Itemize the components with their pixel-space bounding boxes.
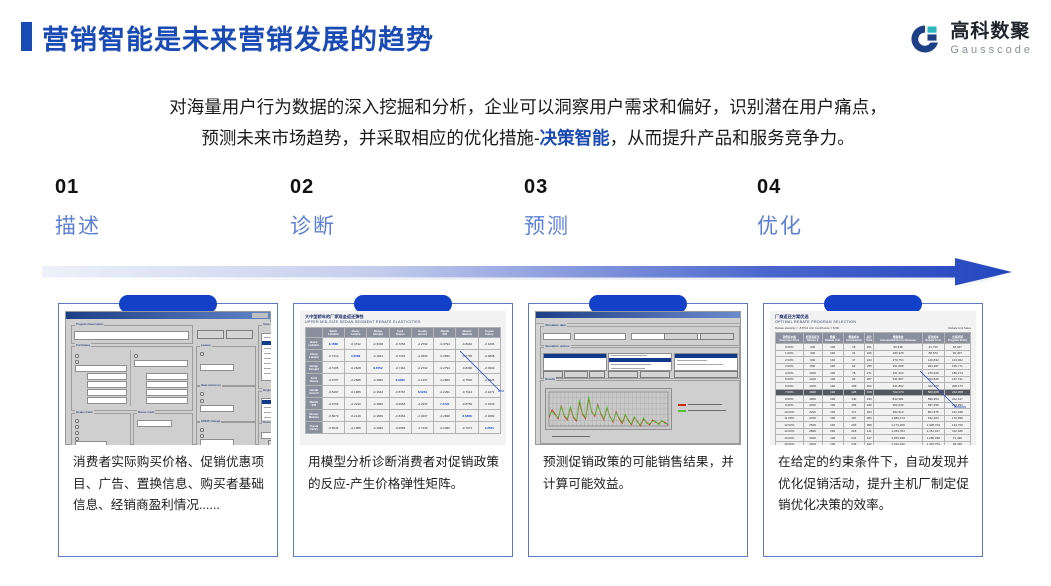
step-label: 诊断 — [290, 210, 500, 240]
step-label: 描述 — [55, 210, 265, 240]
step-item-02: 02 诊断 — [290, 176, 500, 240]
title-accent-bar — [21, 22, 32, 51]
card-describe[interactable]: Program Description Purchases Dealer Cas — [58, 303, 278, 557]
intro-line-2: 预测未来市场趋势，并采取相应的优化措施-决策智能，从而提升产品和服务竞争力。 — [48, 123, 1008, 154]
intro-line-2-before: 预测未来市场趋势，并采取相应的优化措施- — [201, 128, 539, 148]
matrix-title-en: UPPER MID-SIZE SEDAN SEGMENT REBATE ELAS… — [305, 320, 421, 324]
optimal-note-left: Rebate elasticity = -8.8713 Unit Contrib… — [775, 326, 839, 330]
card-optimize[interactable]: 厂商返还方案优选 OPTIMAL REBATE PROGRAM SELECTIO… — [763, 303, 983, 557]
screenshot-elasticity-matrix: 大中型轿车的厂家现金返还弹性 UPPER MID-SIZE SEDAN SEGM… — [300, 311, 506, 445]
brand-logo: 高科数聚 Gausscode — [908, 16, 1033, 62]
screenshot-simulation-chart: Simulation data Simulation options — [535, 311, 741, 445]
logo-text-en: Gausscode — [950, 45, 1033, 56]
step-number: 03 — [524, 176, 734, 199]
card-caption: 消费者实际购买价格、促销优惠项目、广告、置换信息、购买者基础信息、经销商盈利情况… — [73, 452, 264, 517]
step-number: 01 — [55, 176, 265, 199]
step-item-03: 03 预测 — [524, 176, 734, 240]
step-item-04: 04 优化 — [757, 176, 967, 240]
optimal-note-right: Rebate Unit Sales — [948, 326, 971, 330]
intro-line-2-after: ，从而提升产品和服务竞争力。 — [610, 128, 855, 148]
gausscode-logo-icon — [908, 22, 942, 56]
card-predict[interactable]: Simulation data Simulation options — [528, 303, 748, 557]
card-caption: 预测促销政策的可能销售结果，并计算可能效益。 — [543, 452, 734, 495]
card-caption: 在给定的约束条件下，自动发现并优化促销活动，提升主机厂制定促销优化决策的效率。 — [778, 452, 969, 517]
card-diagnose[interactable]: 大中型轿车的厂家现金返还弹性 UPPER MID-SIZE SEDAN SEGM… — [293, 303, 513, 557]
step-label: 预测 — [524, 210, 734, 240]
screenshot-optimal-rebate-table: 厂商返还方案优选 OPTIMAL REBATE PROGRAM SELECTIO… — [770, 311, 976, 445]
intro-highlight: 决策智能 — [540, 128, 610, 148]
step-number: 02 — [290, 176, 500, 199]
screenshot-windows-dialog: Program Description Purchases Dealer Cas — [65, 311, 271, 445]
page-title: 营销智能是未来营销发展的趋势 — [42, 18, 434, 57]
logo-text-cn: 高科数聚 — [950, 22, 1033, 41]
intro-line-1: 对海量用户行为数据的深入挖掘和分析，企业可以洞察用户需求和偏好，识别潜在用户痛点… — [48, 92, 1008, 123]
slide-header: 营销智能是未来营销发展的趋势 高科数聚 Gausscode — [0, 0, 1051, 72]
step-list: 01 描述 02 诊断 03 预测 04 优化 — [0, 176, 1051, 248]
optimal-title-en: OPTIMAL REBATE PROGRAM SELECTION — [775, 320, 856, 324]
step-number: 04 — [757, 176, 967, 199]
card-caption: 用模型分析诊断消费者对促销政策的反应-产生价格弹性矩阵。 — [308, 452, 499, 495]
intro-paragraph: 对海量用户行为数据的深入挖掘和分析，企业可以洞察用户需求和偏好，识别潜在用户痛点… — [48, 92, 1008, 153]
progress-arrow — [40, 258, 1015, 290]
step-item-01: 01 描述 — [55, 176, 265, 240]
step-label: 优化 — [757, 210, 967, 240]
